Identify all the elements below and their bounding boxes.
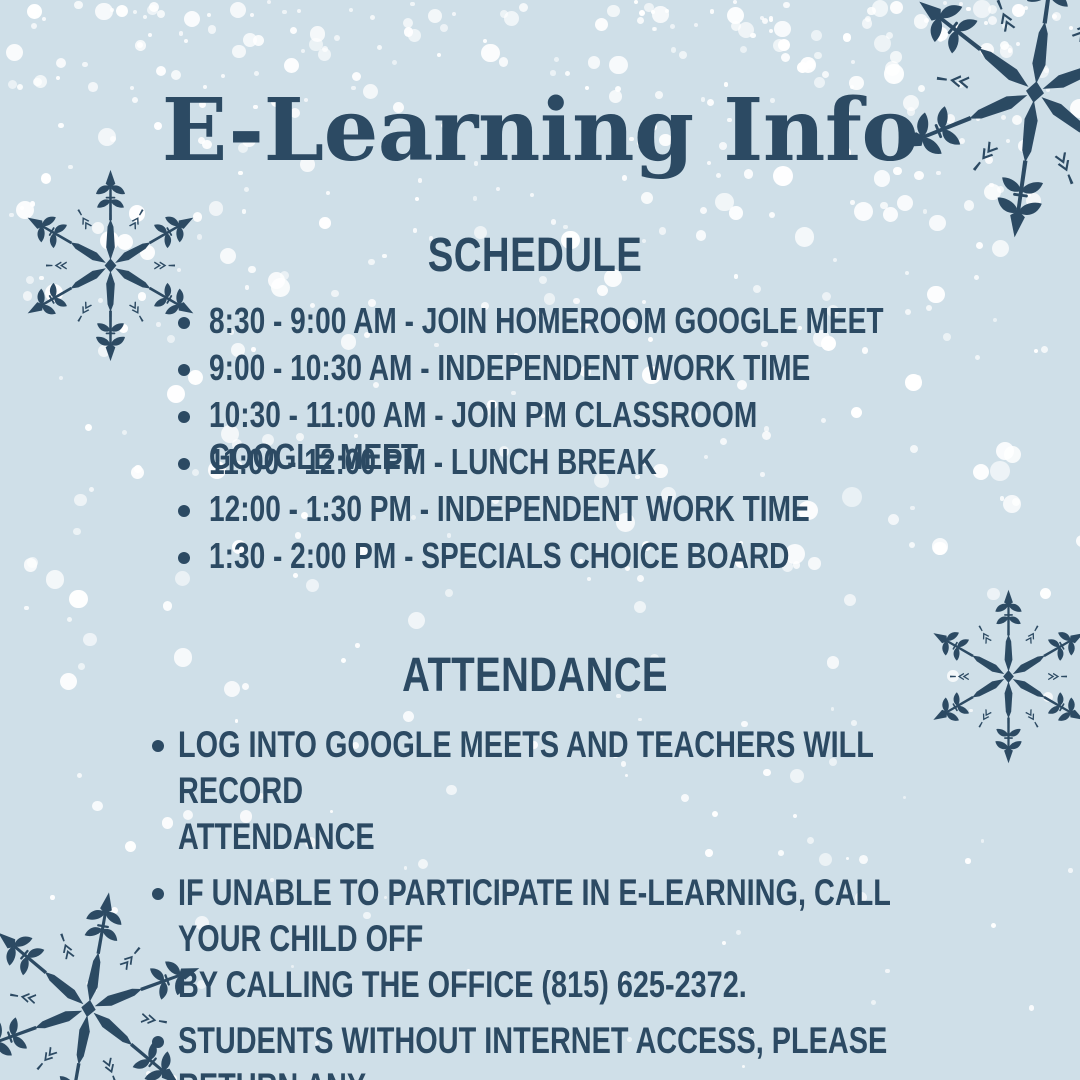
bullet-dot-icon (178, 364, 190, 376)
attendance-item: LOG INTO GOOGLE MEETS AND TEACHERS WILL … (152, 722, 1080, 860)
attendance-item-text: STUDENTS WITHOUT INTERNET ACCESS, PLEASE… (178, 1018, 899, 1080)
attendance-item-text: IF UNABLE TO PARTICIPATE IN E-LEARNING, … (178, 870, 899, 1008)
attendance-list: LOG INTO GOOGLE MEETS AND TEACHERS WILL … (152, 722, 1080, 1080)
bullet-dot-icon (152, 888, 164, 900)
attendance-item-text: LOG INTO GOOGLE MEETS AND TEACHERS WILL … (178, 722, 899, 860)
attendance-heading: ATTENDANCE (295, 652, 775, 700)
schedule-item-text: 12:00 - 1:30 PM - INDEPENDENT WORK TIME (209, 488, 887, 530)
bullet-dot-icon (178, 458, 190, 470)
schedule-item: 10:30 - 11:00 AM - JOIN PM CLASSROOM GOO… (178, 394, 1078, 441)
schedule-item: 1:30 - 2:00 PM - SPECIALS CHOICE BOARD (178, 535, 1078, 582)
schedule-item-text: 1:30 - 2:00 PM - SPECIALS CHOICE BOARD (209, 535, 887, 577)
bullet-dot-icon (152, 740, 164, 752)
attendance-item: IF UNABLE TO PARTICIPATE IN E-LEARNING, … (152, 870, 1080, 1008)
page-title: E-Learning Info (0, 88, 1080, 174)
poster-canvas: E-Learning Info SCHEDULE 8:30 - 9:00 AM … (0, 0, 1080, 1080)
schedule-heading: SCHEDULE (295, 232, 775, 280)
schedule-item: 11:00 - 12:00 PM - LUNCH BREAK (178, 441, 1078, 488)
bullet-dot-icon (178, 505, 190, 517)
schedule-item: 8:30 - 9:00 AM - JOIN HOMEROOM GOOGLE ME… (178, 300, 1078, 347)
attendance-item: STUDENTS WITHOUT INTERNET ACCESS, PLEASE… (152, 1018, 1080, 1080)
schedule-item-text: 8:30 - 9:00 AM - JOIN HOMEROOM GOOGLE ME… (209, 300, 887, 342)
bullet-dot-icon (178, 317, 190, 329)
schedule-item: 9:00 - 10:30 AM - INDEPENDENT WORK TIME (178, 347, 1078, 394)
schedule-item-text: 11:00 - 12:00 PM - LUNCH BREAK (209, 441, 887, 483)
bullet-dot-icon (178, 552, 190, 564)
schedule-item-text: 9:00 - 10:30 AM - INDEPENDENT WORK TIME (209, 347, 887, 389)
bullet-dot-icon (178, 411, 190, 423)
schedule-item: 12:00 - 1:30 PM - INDEPENDENT WORK TIME (178, 488, 1078, 535)
schedule-list: 8:30 - 9:00 AM - JOIN HOMEROOM GOOGLE ME… (178, 300, 1078, 582)
bullet-dot-icon (152, 1036, 164, 1048)
